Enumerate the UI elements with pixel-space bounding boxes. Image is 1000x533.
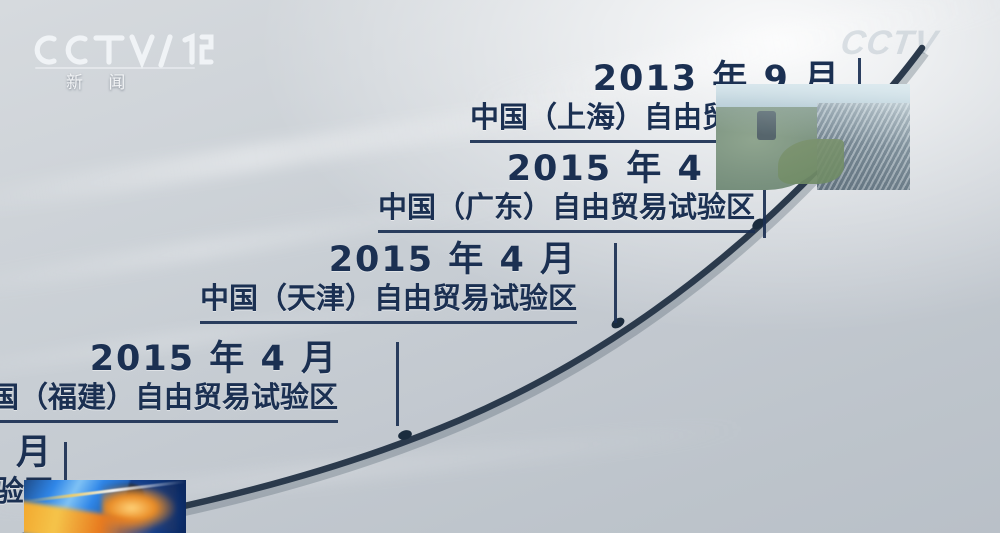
video-inset-city[interactable] <box>716 84 910 190</box>
timeline-zone-name: 国（福建）自由贸易试验区 <box>0 380 338 414</box>
timeline-date: 4 月 <box>0 436 53 472</box>
channel-logo: 新 闻 <box>22 28 222 94</box>
timeline-date: 2015 年 4 月 <box>200 243 577 279</box>
timeline-underline <box>0 420 338 423</box>
data-point <box>397 429 413 442</box>
timeline-tick <box>396 342 399 426</box>
timeline-underline <box>200 321 577 324</box>
video-inset-globe[interactable] <box>24 480 186 533</box>
timeline-date: 2015 年 4 月 <box>378 152 755 188</box>
channel-logo-subtitle: 新 闻 <box>66 68 186 93</box>
inset-haze <box>716 84 910 190</box>
timeline-tick <box>763 190 766 238</box>
timeline-entry-fujian: 2015 年 4 月 国（福建）自由贸易试验区 <box>0 342 338 423</box>
timeline-entry-tianjin: 2015 年 4 月 中国（天津）自由贸易试验区 <box>200 243 577 324</box>
corner-watermark: CCTV <box>839 24 941 63</box>
timeline-underline <box>378 230 755 233</box>
broadcast-frame: 新 闻 CCTV 2013 年 9 月 中国（上海）自由贸易试验区 2015 年… <box>0 0 1000 533</box>
data-point <box>610 315 627 330</box>
timeline-zone-name: 中国（广东）自由贸易试验区 <box>378 190 755 224</box>
timeline-tick <box>614 243 617 323</box>
timeline-entry-guangdong: 2015 年 4 月 中国（广东）自由贸易试验区 <box>378 152 755 233</box>
timeline-zone-name: 中国（天津）自由贸易试验区 <box>200 281 577 315</box>
timeline-date: 2015 年 4 月 <box>0 342 338 378</box>
